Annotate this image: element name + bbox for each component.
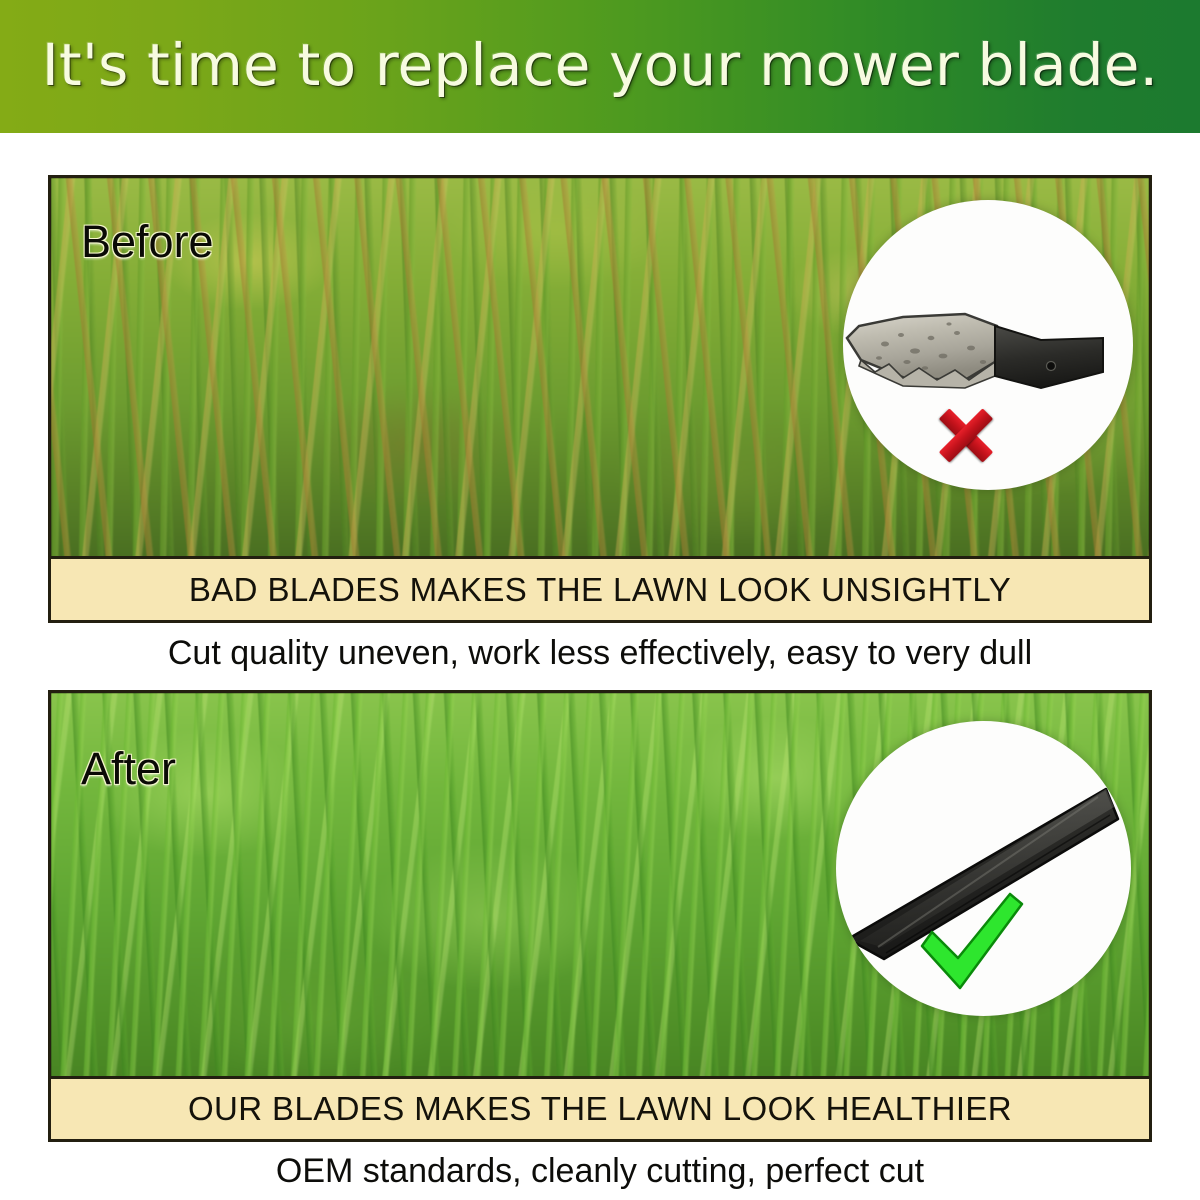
red-x-mark-icon xyxy=(935,404,997,466)
before-caption-band: BAD BLADES MAKES THE LAWN LOOK UNSIGHTLY xyxy=(51,556,1149,620)
dull-blade-icon xyxy=(845,296,1107,400)
after-lawn-photo: After xyxy=(51,693,1149,1079)
green-check-mark-icon xyxy=(914,888,1026,998)
after-blade-inset xyxy=(836,721,1131,1016)
before-description: Cut quality uneven, work less effectivel… xyxy=(0,634,1200,673)
after-description: OEM standards, cleanly cutting, perfect … xyxy=(0,1152,1200,1191)
before-lawn-photo: Before xyxy=(51,178,1149,559)
after-caption-text: OUR BLADES MAKES THE LAWN LOOK HEALTHIER xyxy=(188,1090,1012,1128)
after-caption-band: OUR BLADES MAKES THE LAWN LOOK HEALTHIER xyxy=(51,1076,1149,1139)
header-banner: It's time to replace your mower blade. xyxy=(0,0,1200,133)
advertisement-page: It's time to replace your mower blade. B… xyxy=(0,0,1200,1200)
after-panel: After xyxy=(48,690,1152,1142)
before-stage-label: Before xyxy=(81,216,214,268)
after-stage-label: After xyxy=(81,743,176,795)
before-panel: Before xyxy=(48,175,1152,623)
before-caption-text: BAD BLADES MAKES THE LAWN LOOK UNSIGHTLY xyxy=(189,571,1011,609)
page-title: It's time to replace your mower blade. xyxy=(42,31,1159,103)
before-blade-inset xyxy=(843,200,1133,490)
